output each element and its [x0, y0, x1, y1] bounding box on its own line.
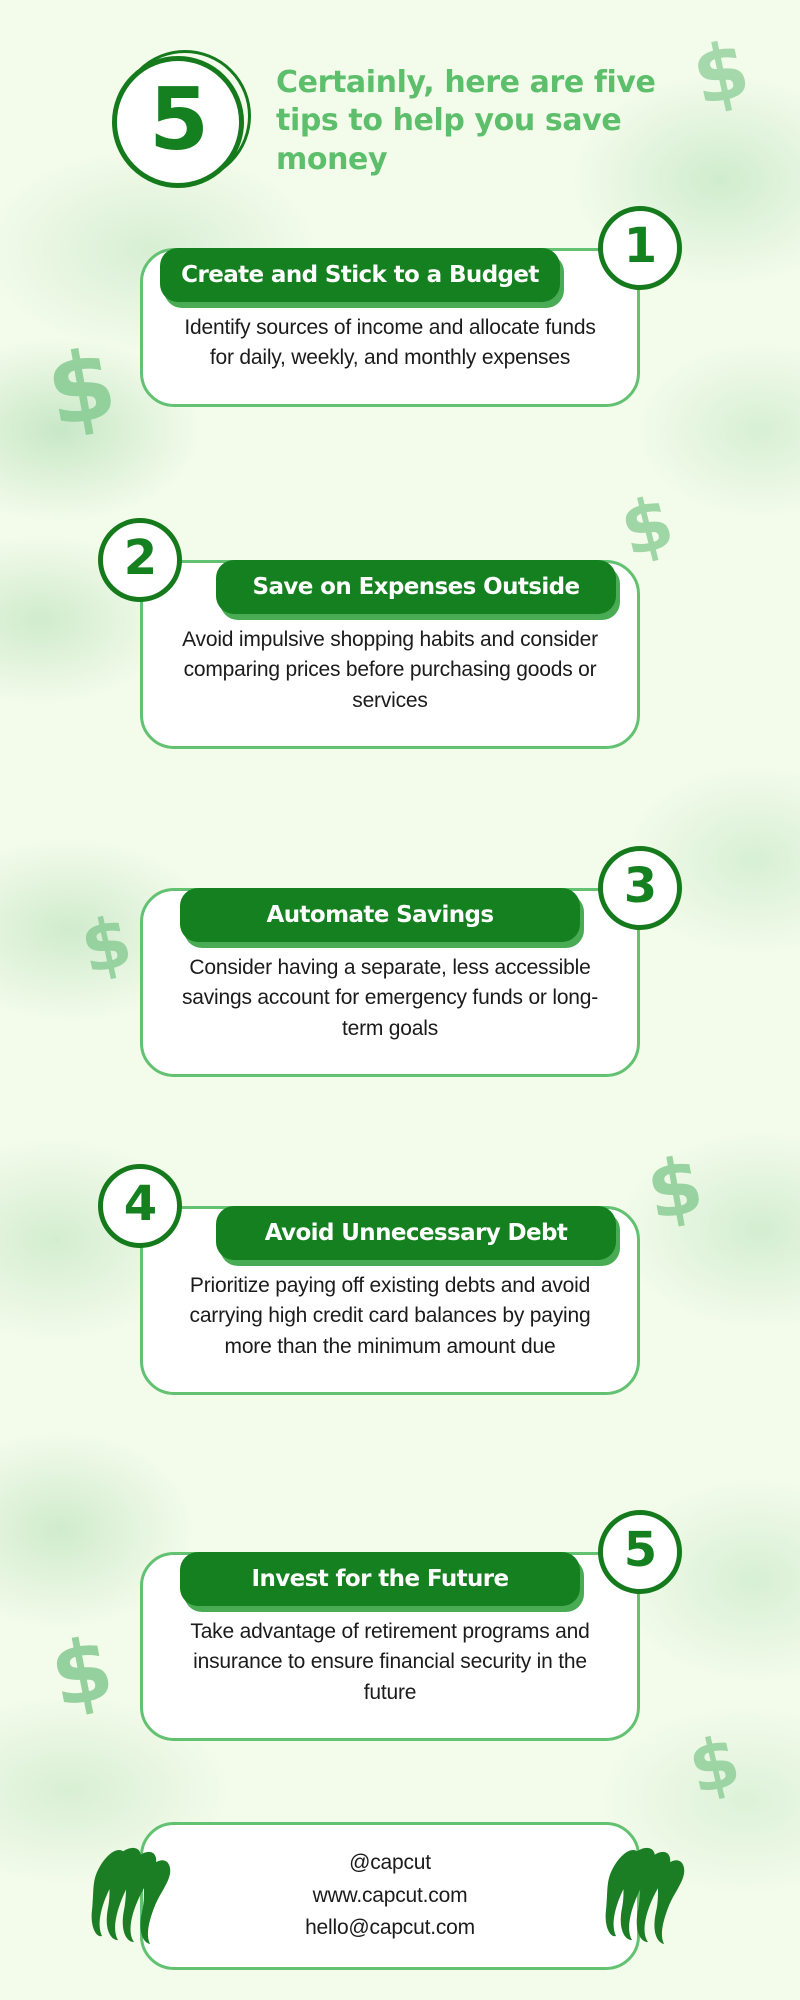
tip-card-3-number: 3: [624, 862, 656, 910]
header: 5 Certainly, here are five tips to help …: [0, 48, 800, 208]
tip-card-2-title: Save on Expenses Outside: [253, 574, 580, 600]
header-badge-inner-ring: 5: [112, 56, 244, 188]
tip-card-3-banner: Automate Savings: [180, 888, 584, 948]
footer-contact-box: @capcut www.capcut.com hello@capcut.com: [140, 1822, 640, 1970]
tip-card-2-text: Avoid impulsive shopping habits and cons…: [177, 625, 603, 716]
tip-card-1-title: Create and Stick to a Budget: [181, 262, 539, 288]
tip-card-5-banner: Invest for the Future: [180, 1552, 584, 1612]
tip-card-2-number: 2: [124, 534, 156, 582]
tip-card-5-banner-front: Invest for the Future: [180, 1552, 580, 1606]
tip-card-4-text: Prioritize paying off existing debts and…: [177, 1271, 603, 1362]
tip-card-2-banner: Save on Expenses Outside: [216, 560, 620, 620]
footer: @capcut www.capcut.com hello@capcut.com: [140, 1822, 640, 1970]
tip-card-4-title: Avoid Unnecessary Debt: [265, 1220, 568, 1246]
tip-card-3-number-badge: 3: [598, 846, 682, 930]
tip-card-2-banner-front: Save on Expenses Outside: [216, 560, 616, 614]
header-badge-number: 5: [149, 77, 207, 163]
tip-card-4-number: 4: [124, 1180, 156, 1228]
tip-card-4-banner-front: Avoid Unnecessary Debt: [216, 1206, 616, 1260]
infographic-page: 5 Certainly, here are five tips to help …: [0, 0, 800, 2000]
tip-card-1: Identify sources of income and allocate …: [140, 248, 640, 407]
tip-card-1-number-badge: 1: [598, 206, 682, 290]
tip-card-3-text: Consider having a separate, less accessi…: [177, 953, 603, 1044]
tip-card-3: Consider having a separate, less accessi…: [140, 888, 640, 1077]
tip-card-1-text: Identify sources of income and allocate …: [177, 313, 603, 374]
tip-card-1-banner: Create and Stick to a Budget: [160, 248, 564, 308]
tip-card-5: Take advantage of retirement programs an…: [140, 1552, 640, 1741]
tip-card-4-banner: Avoid Unnecessary Debt: [216, 1206, 620, 1266]
tip-card-2: Avoid impulsive shopping habits and cons…: [140, 560, 640, 749]
tip-card-1-number: 1: [624, 222, 656, 270]
tip-card-3-title: Automate Savings: [267, 902, 494, 928]
tip-card-4: Prioritize paying off existing debts and…: [140, 1206, 640, 1395]
header-number-badge: 5: [112, 48, 252, 188]
tip-card-3-banner-front: Automate Savings: [180, 888, 580, 942]
tip-card-2-number-badge: 2: [98, 518, 182, 602]
tip-card-5-number: 5: [624, 1526, 656, 1574]
tip-card-5-title: Invest for the Future: [252, 1566, 509, 1592]
page-title: Certainly, here are five tips to help yo…: [276, 64, 696, 179]
tip-card-1-banner-front: Create and Stick to a Budget: [160, 248, 560, 302]
footer-handle: @capcut: [183, 1847, 597, 1880]
footer-website[interactable]: www.capcut.com: [183, 1880, 597, 1913]
tip-card-4-number-badge: 4: [98, 1164, 182, 1248]
footer-email[interactable]: hello@capcut.com: [183, 1912, 597, 1945]
tip-card-5-number-badge: 5: [598, 1510, 682, 1594]
tip-card-5-text: Take advantage of retirement programs an…: [177, 1617, 603, 1708]
